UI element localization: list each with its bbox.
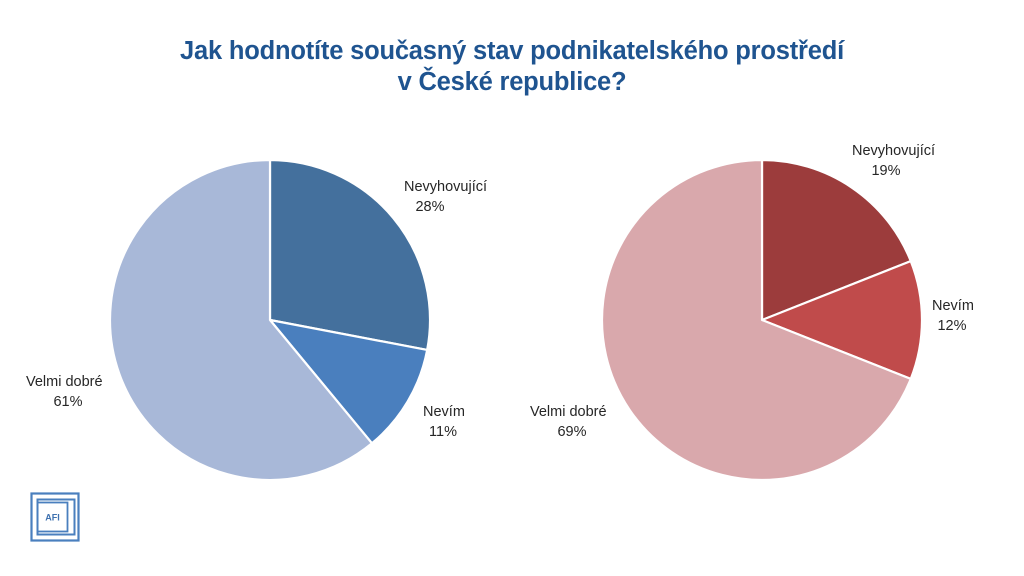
- pie-charts-svg: Nevyhovující 28% Nevím 11% Velmi dobré 6…: [0, 110, 1024, 510]
- right-label-nevyhovujici-name: Nevyhovující: [852, 143, 935, 159]
- left-label-nevim-value: 11%: [429, 424, 457, 440]
- right-pie-chart: Nevyhovující 19% Nevím 12% Velmi dobré 6…: [530, 143, 974, 480]
- page-title: Jak hodnotíte současný stav podnikatelsk…: [0, 36, 1024, 98]
- left-label-nevyhovujici-name: Nevyhovující: [404, 179, 487, 195]
- right-label-velmi-dobre-value: 69%: [557, 424, 586, 440]
- left-label-velmi-dobre-name: Velmi dobré: [26, 374, 103, 390]
- page-title-line-2: v České republice?: [0, 67, 1024, 98]
- right-label-nevim-name: Nevím: [932, 298, 974, 314]
- nested-squares-icon: AFI: [28, 487, 86, 545]
- left-label-velmi-dobre-value: 61%: [53, 394, 82, 410]
- slide-canvas: Jak hodnotíte současný stav podnikatelsk…: [0, 0, 1024, 576]
- left-label-nevim-name: Nevím: [423, 404, 465, 420]
- left-label-nevyhovujici-value: 28%: [415, 199, 444, 215]
- logo-text: AFI: [45, 513, 60, 523]
- right-label-nevyhovujici-value: 19%: [871, 163, 900, 179]
- right-label-velmi-dobre-name: Velmi dobré: [530, 404, 607, 420]
- afi-logo: AFI: [28, 487, 86, 545]
- charts-container: Nevyhovující 28% Nevím 11% Velmi dobré 6…: [0, 110, 1024, 510]
- right-label-nevim-value: 12%: [937, 318, 966, 334]
- left-pie-chart: Nevyhovující 28% Nevím 11% Velmi dobré 6…: [26, 160, 487, 480]
- page-title-line-1: Jak hodnotíte současný stav podnikatelsk…: [0, 36, 1024, 67]
